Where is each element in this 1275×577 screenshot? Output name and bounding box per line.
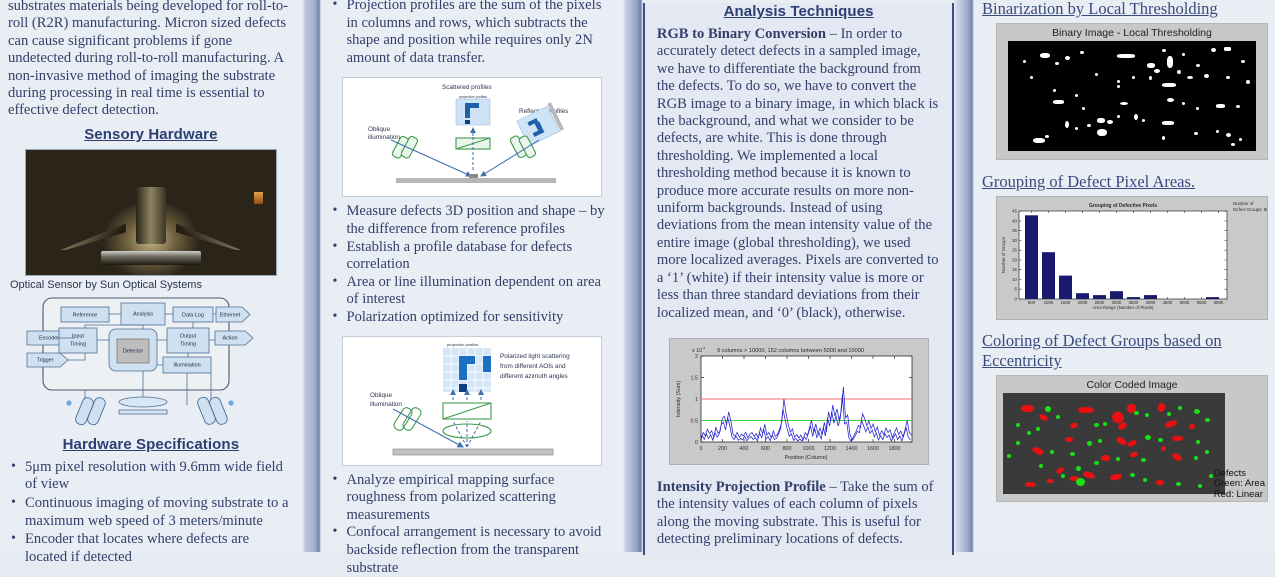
svg-text:45: 45 — [1012, 209, 1017, 214]
legend-line-green: Green: Area — [1214, 479, 1265, 490]
svg-text:1000: 1000 — [802, 446, 814, 452]
ytick-05: 0.5 — [690, 418, 698, 424]
diagram-label-action: Action — [222, 335, 237, 341]
list-item: Establish a profile database for defects… — [329, 239, 615, 274]
intensity-projection-chart: .mt{font-family:"Liberation Sans",sans-s… — [669, 338, 929, 465]
column-divider-3 — [954, 0, 974, 552]
intensity-projection-lead: Intensity Projection Profile — [657, 479, 826, 495]
svg-text:30: 30 — [1012, 238, 1017, 243]
intensity-chart-svg: .mt{font-family:"Liberation Sans",sans-s… — [670, 339, 928, 464]
list-item: Area or line illumination dependent on a… — [329, 274, 615, 309]
binary-image-frame: Binary Image - Local Thresholding — [996, 23, 1268, 160]
svg-text:25: 25 — [1012, 248, 1017, 253]
list-item: Confocal arrangement is necessary to avo… — [329, 524, 615, 577]
chart-xlabel: Position (Column) — [784, 455, 827, 461]
profiles-figure-svg: .ft{font-family:"Liberation Sans",sans-s… — [343, 78, 601, 196]
photo-wing-right — [176, 217, 241, 250]
column-analysis-techniques: Analysis Techniques RGB to Binary Conver… — [643, 0, 954, 552]
chart-ylabel: Intensity (Sum) — [676, 381, 682, 417]
svg-text:0: 0 — [699, 446, 702, 452]
label-projection-profiles-small: projection profiles — [459, 95, 487, 99]
ytick-1: 1 — [695, 397, 698, 403]
color-coded-image-frame: Color Coded Image — [996, 375, 1268, 502]
binarization-title: Binarization by Local Thresholding — [982, 0, 1267, 19]
svg-text:6000: 6000 — [1214, 300, 1224, 305]
color-coded-image — [1003, 393, 1225, 494]
diagram-label-input-timing: Input — [72, 333, 84, 339]
svg-text:illumination: illumination — [370, 401, 402, 408]
svg-text:15: 15 — [1012, 267, 1017, 272]
column-divider-2 — [623, 0, 643, 552]
diagram-label-data-log: Data Log — [182, 312, 204, 318]
polarized-figure-svg: .ft2{font-family:"Liberation Sans",sans-… — [343, 337, 601, 465]
grouping-bar-chart: .bt{font-family:"Liberation Sans",sans-s… — [996, 196, 1268, 320]
projection-profile-grid — [443, 348, 491, 392]
photo-stage — [101, 251, 201, 265]
photo-caption: Optical Sensor by Sun Optical Systems — [10, 279, 294, 291]
label-oblique-illumination-2: Oblique — [370, 392, 392, 399]
svg-text:Timing: Timing — [180, 341, 196, 347]
projection-profiles-list: Projection profiles are the sum of the p… — [329, 0, 615, 67]
chart-title: 9 columns > 10000, 152 columns between 5… — [717, 348, 864, 354]
column-divider-1 — [302, 0, 322, 552]
sensory-hardware-title: Sensory Hardware — [8, 126, 294, 143]
photo-lens-barrel — [136, 187, 166, 243]
svg-text:5000: 5000 — [1180, 300, 1190, 305]
diagram-label-ethernet: Ethernet — [220, 312, 241, 318]
diagram-label-analysis: Analysis — [133, 311, 153, 317]
bar-chart-annotation-line1: Number of — [1233, 201, 1254, 206]
svg-text:5500: 5500 — [1197, 300, 1207, 305]
coloring-title: Coloring of Defect Groups based on Eccen… — [982, 331, 1267, 371]
scattered-reflected-profiles-figure: .ft{font-family:"Liberation Sans",sans-s… — [342, 77, 602, 197]
optics-elements — [393, 403, 492, 438]
diagram-label-encoder: Encoder — [39, 335, 59, 341]
svg-text:1200: 1200 — [824, 446, 836, 452]
svg-text:4000: 4000 — [1146, 300, 1156, 305]
photo-wing-left — [61, 217, 126, 250]
svg-text:illumination: illumination — [368, 134, 400, 141]
label-oblique-illumination: Oblique — [368, 126, 390, 133]
rgb-to-binary-body: – In order to accurately detect defects … — [657, 26, 939, 321]
label-projection-profiles: projection profiles — [447, 342, 478, 347]
svg-text:35: 35 — [1012, 228, 1017, 233]
diagram-label-trigger: Trigger — [36, 357, 53, 363]
svg-text:1400: 1400 — [845, 446, 857, 452]
analysis-panel: Analysis Techniques RGB to Binary Conver… — [643, 3, 954, 555]
svg-text:20: 20 — [1012, 258, 1017, 263]
svg-text:40: 40 — [1012, 219, 1017, 224]
color-legend: Defects Green: Area Red: Linear — [1214, 469, 1265, 501]
svg-text:2000: 2000 — [1078, 300, 1088, 305]
svg-text:800: 800 — [782, 446, 791, 452]
svg-text:Defect Groups: 88: Defect Groups: 88 — [1233, 207, 1267, 212]
svg-text:600: 600 — [761, 446, 770, 452]
list-item: Analyze empirical mapping surface roughn… — [329, 472, 615, 525]
bar-chart-xlabel: Area Range (Number of Pixels) — [1092, 305, 1154, 310]
ytick-0: 0 — [695, 440, 698, 446]
diagram-label-detector: Detector — [123, 348, 144, 354]
svg-text:different azimuth angles: different azimuth angles — [500, 373, 568, 380]
diagram-label-illumination: Illumination — [173, 362, 200, 368]
analysis-techniques-title: Analysis Techniques — [657, 3, 940, 20]
polarized-scattering-figure: .ft2{font-family:"Liberation Sans",sans-… — [342, 336, 602, 466]
intensity-projection-paragraph: Intensity Projection Profile – Take the … — [657, 479, 940, 549]
list-item: Polarization optimized for sensitivity — [329, 309, 615, 327]
rgb-to-binary-lead: RGB to Binary Conversion — [657, 26, 826, 42]
svg-text:400: 400 — [739, 446, 748, 452]
svg-text:3500: 3500 — [1129, 300, 1139, 305]
svg-text:1800: 1800 — [888, 446, 900, 452]
hardware-specs-list: 5μm pixel resolution with 9.6mm wide fie… — [8, 459, 294, 567]
svg-text:500: 500 — [1028, 300, 1036, 305]
rgb-to-binary-paragraph: RGB to Binary Conversion – In order to a… — [657, 26, 940, 322]
svg-text:Timing: Timing — [70, 341, 86, 347]
color-coded-image-title: Color Coded Image — [997, 376, 1267, 393]
legend-line-red: Red: Linear — [1214, 490, 1265, 501]
diagram-label-reference: Reference — [72, 312, 97, 318]
block-diagram-svg: .bx{fill:#cfe0f0;stroke:#4a6f96;stroke-w… — [25, 295, 277, 435]
svg-text:200: 200 — [718, 446, 727, 452]
svg-text:1500: 1500 — [1061, 300, 1071, 305]
binary-image — [1008, 41, 1256, 151]
svg-text:10: 10 — [1012, 277, 1017, 282]
column-sensory-hardware: substrates materials being developed for… — [0, 0, 302, 552]
list-item: Continuous imaging of moving substrate t… — [8, 495, 294, 530]
list-item: Measure defects 3D position and shape – … — [329, 203, 615, 238]
poster-canvas: substrates materials being developed for… — [0, 0, 1275, 552]
optical-sensor-photo — [25, 149, 277, 276]
label-scattered-profiles: Scattered profiles — [442, 84, 492, 91]
grouping-title: Grouping of Defect Pixel Areas. — [982, 172, 1267, 192]
binary-image-title: Binary Image - Local Thresholding — [997, 24, 1267, 41]
intro-paragraph: substrates materials being developed for… — [8, 0, 294, 120]
scattered-profile-tile — [456, 99, 490, 125]
diagram-label-output-timing: Output — [180, 333, 197, 339]
bar-chart-title: Grouping of Defective Pixels — [1089, 203, 1157, 209]
svg-text:2500: 2500 — [1095, 300, 1105, 305]
svg-text:4: 4 — [703, 346, 705, 350]
label-polarized-note: Polarized light scattering — [500, 353, 570, 360]
svg-text:from different AOIs and: from different AOIs and — [500, 363, 566, 370]
ytick-2: 2 — [695, 354, 698, 360]
hardware-specifications-title: Hardware Specifications — [8, 436, 294, 453]
analysis-bullets-list: Analyze empirical mapping surface roughn… — [329, 472, 615, 577]
column-results: Binarization by Local Thresholding Binar… — [974, 0, 1275, 552]
svg-text:1000: 1000 — [1044, 300, 1054, 305]
list-item: Encoder that locates where defects are l… — [8, 531, 294, 566]
svg-text:3000: 3000 — [1112, 300, 1122, 305]
ytick-15: 1.5 — [690, 375, 698, 381]
svg-text:1600: 1600 — [867, 446, 879, 452]
list-item: 5μm pixel resolution with 9.6mm wide fie… — [8, 459, 294, 494]
list-item: Projection profiles are the sum of the p… — [329, 0, 615, 67]
measurement-bullets-list: Measure defects 3D position and shape – … — [329, 203, 615, 326]
bar-chart-ylabel: Number of Groups — [1001, 236, 1006, 273]
hardware-block-diagram: .bx{fill:#cfe0f0;stroke:#4a6f96;stroke-w… — [25, 295, 277, 435]
photo-indicator-light — [254, 192, 263, 204]
column-optical-profiles: Projection profiles are the sum of the p… — [321, 0, 623, 552]
svg-text:4500: 4500 — [1163, 300, 1173, 305]
grouping-chart-svg: .bt{font-family:"Liberation Sans",sans-s… — [997, 197, 1267, 319]
